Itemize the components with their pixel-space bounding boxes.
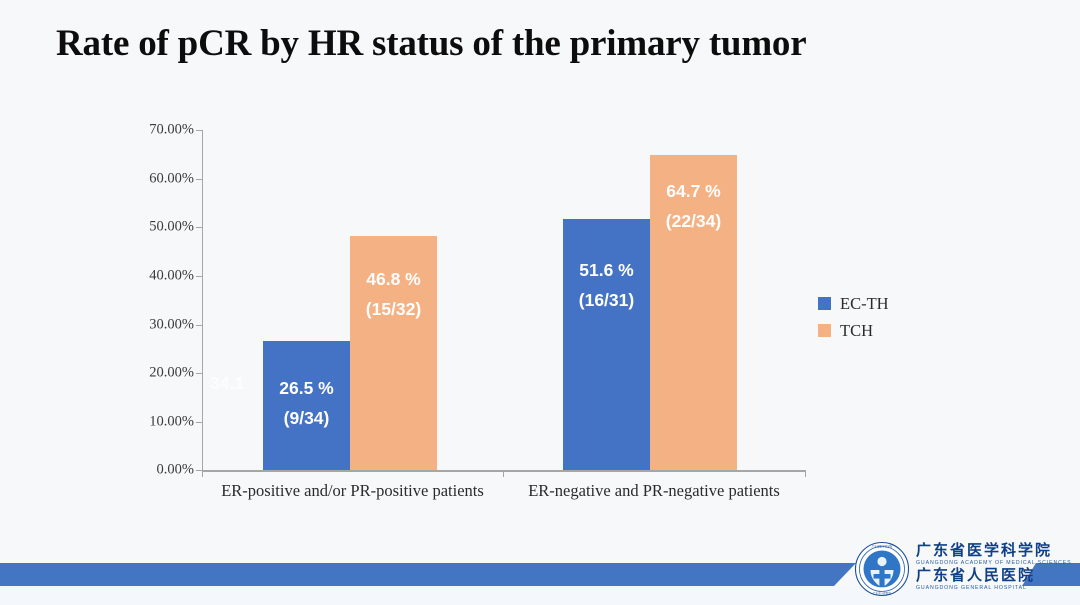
x-axis-tick xyxy=(202,470,203,477)
footer-banner-left xyxy=(0,563,856,586)
logo-cn-academy: 广东省医学科学院 xyxy=(916,544,1072,560)
y-tick-label: 40.00% xyxy=(149,267,194,284)
hospital-logo: 广东省医学科学院 广东省人民医院 广东省医学科学院 GUANGDONG ACAD… xyxy=(854,538,1050,600)
bar-chart: 70.00% 60.00% 50.00% 40.00% 30.00% 20.00… xyxy=(0,0,1080,605)
y-tick-label: 30.00% xyxy=(149,316,194,333)
logo-en-hospital: GUANGDONG GENERAL HOSPITAL xyxy=(916,586,1072,591)
svg-text:广东省人民医院: 广东省人民医院 xyxy=(873,592,892,596)
legend-item-tch[interactable]: TCH xyxy=(818,317,889,344)
svg-text:广东省医学科学院: 广东省医学科学院 xyxy=(872,545,893,549)
bar-ecth-er-positive[interactable] xyxy=(263,341,350,470)
hospital-logo-text: 广东省医学科学院 GUANGDONG ACADEMY OF MEDICAL SC… xyxy=(916,544,1072,594)
x-axis-line xyxy=(202,470,806,472)
bar-ecth-er-negative[interactable] xyxy=(563,219,650,470)
legend-swatch-icon xyxy=(818,324,831,337)
y-axis-tick xyxy=(196,227,202,228)
y-axis-tick xyxy=(196,422,202,423)
y-axis-tick xyxy=(196,325,202,326)
hospital-emblem-icon: 广东省医学科学院 广东省人民医院 xyxy=(854,541,910,597)
legend-label: EC-TH xyxy=(840,294,889,314)
chart-legend: EC-TH TCH xyxy=(818,290,889,344)
y-tick-label: 60.00% xyxy=(149,170,194,187)
y-tick-label: 50.00% xyxy=(149,219,194,236)
legend-item-ecth[interactable]: EC-TH xyxy=(818,290,889,317)
y-tick-label: 10.00% xyxy=(149,413,194,430)
x-axis-tick xyxy=(503,470,504,477)
x-axis-tick xyxy=(805,470,806,477)
artifact-label: 34.1 xyxy=(210,373,244,394)
y-tick-label: 70.00% xyxy=(149,122,194,139)
y-axis-line xyxy=(202,130,203,471)
slide-canvas: Rate of pCR by HR status of the primary … xyxy=(0,0,1080,605)
bar-tch-er-negative[interactable] xyxy=(650,155,737,470)
legend-label: TCH xyxy=(840,321,873,341)
legend-swatch-icon xyxy=(818,297,831,310)
x-category-label-er-positive: ER-positive and/or PR-positive patients xyxy=(202,481,503,501)
y-axis-tick xyxy=(196,130,202,131)
x-category-label-er-negative: ER-negative and PR-negative patients xyxy=(503,481,805,501)
y-tick-label: 20.00% xyxy=(149,365,194,382)
y-axis-tick xyxy=(196,373,202,374)
bar-tch-er-positive[interactable] xyxy=(350,236,437,470)
y-axis-tick xyxy=(196,276,202,277)
y-axis-labels: 70.00% 60.00% 50.00% 40.00% 30.00% 20.00… xyxy=(132,0,194,605)
logo-en-academy: GUANGDONG ACADEMY OF MEDICAL SCIENCES xyxy=(916,561,1072,566)
y-axis-tick xyxy=(196,179,202,180)
y-tick-label: 0.00% xyxy=(157,462,194,479)
logo-cn-hospital: 广东省人民医院 xyxy=(916,569,1072,585)
